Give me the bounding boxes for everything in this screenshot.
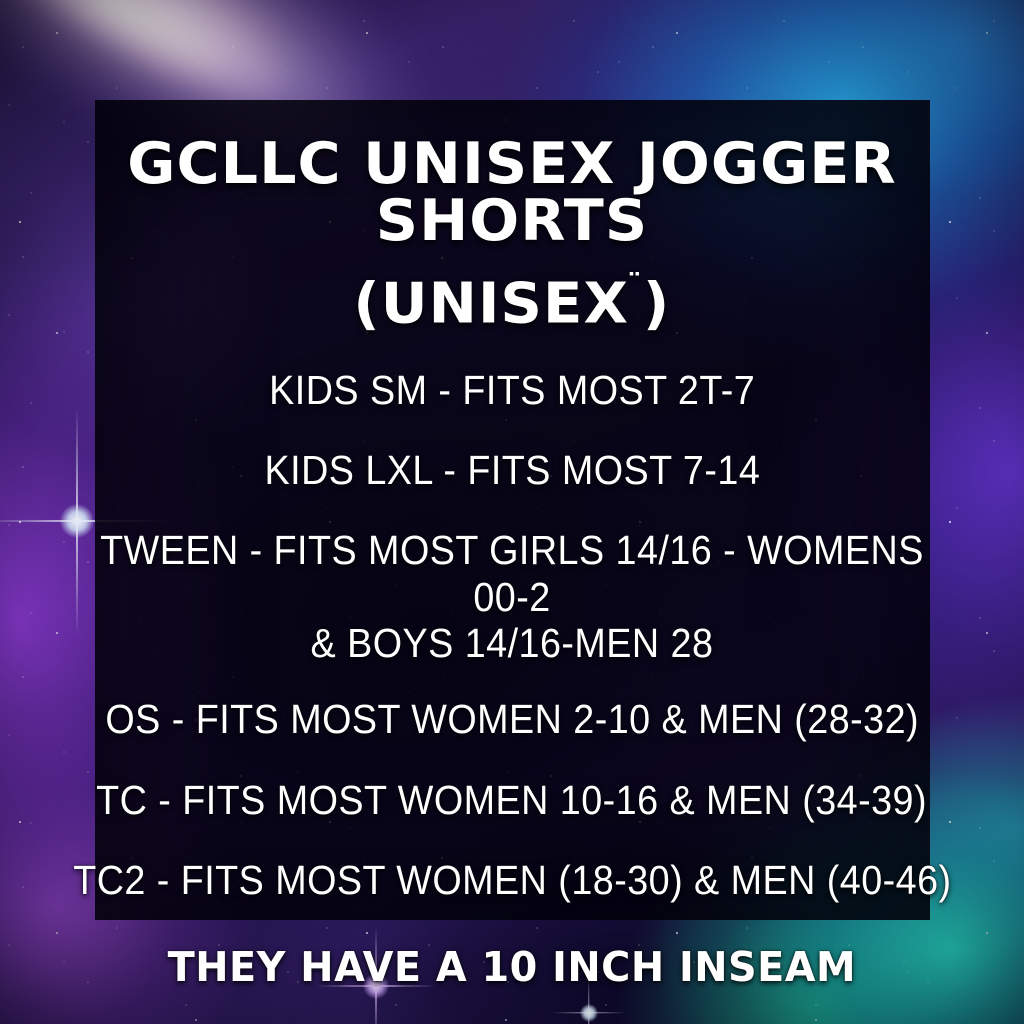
size-line-tc2: TC2 - FITS MOST WOMEN (18-30) & MEN (40-…: [73, 857, 951, 903]
page-subtitle: (UNISEX¨): [354, 271, 671, 333]
poster-content: GCLLC UNISEX JOGGER SHORTS (UNISEX¨) KID…: [0, 0, 1024, 1024]
page-subtitle-close-paren: ): [643, 272, 670, 337]
size-line-kids-lxl: KIDS LXL - FITS MOST 7-14: [264, 447, 760, 493]
size-line-kids-sm: KIDS SM - FITS MOST 2T-7: [269, 367, 755, 413]
page-subtitle-diaeresis-mark: ¨: [627, 268, 643, 302]
size-line-tween-part-2: & BOYS 14/16-MEN 28: [80, 620, 945, 666]
size-chart-list: KIDS SM - FITS MOST 2T-7 KIDS LXL - FITS…: [0, 367, 1024, 992]
size-line-tween-part-1: TWEEN - FITS MOST GIRLS 14/16 - WOMENS 0…: [100, 527, 924, 619]
page-title: GCLLC UNISEX JOGGER SHORTS: [0, 136, 1024, 250]
inseam-note: THEY HAVE A 10 INCH INSEAM: [168, 943, 856, 991]
page-subtitle-text: (UNISEX: [354, 272, 630, 337]
size-line-tc: TC - FITS MOST WOMEN 10-16 & MEN (34-39): [97, 777, 928, 823]
size-line-os: OS - FITS MOST WOMEN 2-10 & MEN (28-32): [105, 696, 919, 742]
galaxy-size-chart-poster: GCLLC UNISEX JOGGER SHORTS (UNISEX¨) KID…: [0, 0, 1024, 1024]
size-line-tween: TWEEN - FITS MOST GIRLS 14/16 - WOMENS 0…: [80, 527, 945, 666]
